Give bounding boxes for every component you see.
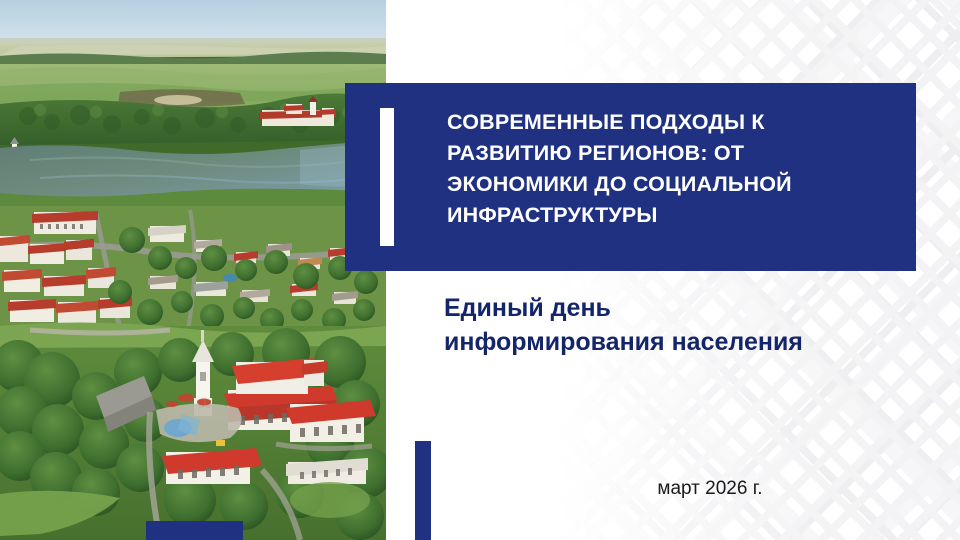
slide-root: СОВРЕМЕННЫЕ ПОДХОДЫ К РАЗВИТИЮ РЕГИОНОВ:…: [0, 0, 960, 540]
title-accent-bar: [380, 108, 394, 246]
page-title: СОВРЕМЕННЫЕ ПОДХОДЫ К РАЗВИТИЮ РЕГИОНОВ:…: [447, 107, 897, 231]
accent-bar-bottom: [146, 521, 243, 540]
title-panel: СОВРЕМЕННЫЕ ПОДХОДЫ К РАЗВИТИЮ РЕГИОНОВ:…: [345, 83, 916, 271]
aerial-photo-nesvizh: [0, 0, 386, 540]
accent-bar-vertical: [415, 441, 431, 540]
subtitle: Единый день информирования населения: [444, 291, 884, 359]
date-label: март 2026 г.: [560, 478, 860, 500]
